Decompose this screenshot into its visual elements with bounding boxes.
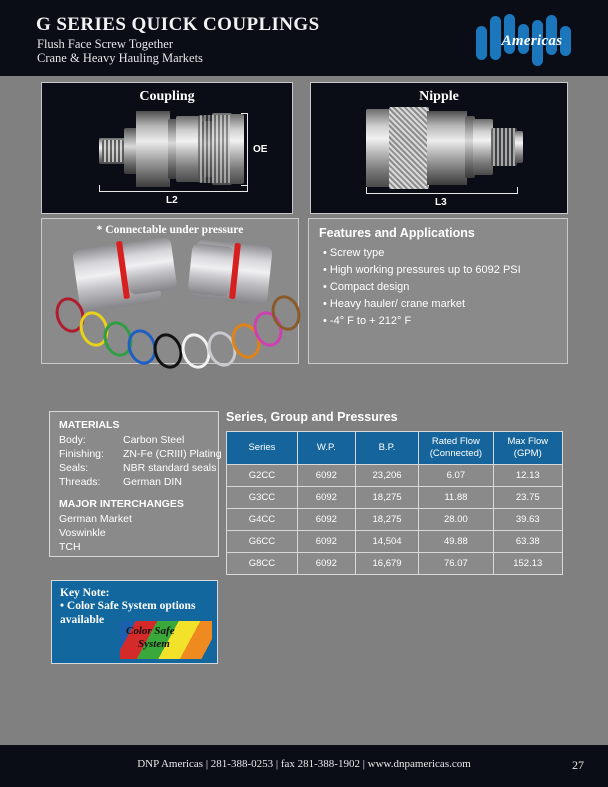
coupling-oe-label: OE <box>253 144 267 155</box>
cell-wp: 6092 <box>297 487 355 509</box>
footer-contact-text: DNP Americas | 281-388-0253 | fax 281-38… <box>0 758 608 770</box>
column-header-max-flow: Max Flow(GPM) <box>493 432 562 465</box>
cell-bp: 14,504 <box>355 531 418 553</box>
column-header-wp: W.P. <box>297 432 355 465</box>
cell-max-flow: 152.13 <box>493 553 562 575</box>
cell-max-flow: 63.38 <box>493 531 562 553</box>
features-title: Features and Applications <box>319 226 475 240</box>
cell-rated-flow: 11.88 <box>419 487 493 509</box>
interchange-item: German Market <box>59 512 209 526</box>
nipple-l3-tick-right <box>517 187 518 194</box>
table-row: G2CC 6092 23,206 6.07 12.13 <box>227 465 563 487</box>
table-row: G4CC 6092 18,275 28.00 39.63 <box>227 509 563 531</box>
cell-bp: 23,206 <box>355 465 418 487</box>
interchange-item: TCH <box>59 540 209 554</box>
cell-series: G6CC <box>227 531 298 553</box>
cell-max-flow: 12.13 <box>493 465 562 487</box>
color-safe-logo-text: Color Safe System <box>126 625 175 651</box>
materials-row: Finishing:ZN-Fe (CRIII) Plating <box>59 447 209 461</box>
connectable-under-pressure-title: * Connectable under pressure <box>42 224 298 236</box>
cell-wp: 6092 <box>297 509 355 531</box>
coupling-oe-tick-top <box>241 113 248 114</box>
feature-item: • Heavy hauler/ crane market <box>323 296 521 313</box>
coupling-l2-label: L2 <box>166 195 178 206</box>
nipple-image-panel: Nipple L3 <box>310 82 568 214</box>
cell-rated-flow: 6.07 <box>419 465 493 487</box>
materials-box: MATERIALS Body:Carbon Steel Finishing:ZN… <box>49 411 219 557</box>
page-header: G SERIES QUICK COUPLINGS Flush Face Scre… <box>0 0 608 76</box>
table-header-row: Series W.P. B.P. Rated Flow(Connected) M… <box>227 432 563 465</box>
cell-wp: 6092 <box>297 531 355 553</box>
cell-wp: 6092 <box>297 553 355 575</box>
coupling-image-panel: Coupling OE L2 <box>41 82 293 214</box>
key-note-title: Key Note: <box>60 587 209 599</box>
coupling-l2-tick-left <box>99 185 100 192</box>
coupling-panel-title: Coupling <box>42 89 292 105</box>
cell-bp: 18,275 <box>355 487 418 509</box>
cell-rated-flow: 28.00 <box>419 509 493 531</box>
features-and-applications-panel: Features and Applications • Screw type •… <box>308 218 568 364</box>
materials-heading: MATERIALS <box>59 419 209 431</box>
cell-max-flow: 39.63 <box>493 509 562 531</box>
column-header-bp: B.P. <box>355 432 418 465</box>
feature-item: • -4° F to + 212° F <box>323 313 521 330</box>
table-row: G6CC 6092 14,504 49.88 63.38 <box>227 531 563 553</box>
nipple-l3-label: L3 <box>435 197 447 208</box>
materials-row: Seals:NBR standard seals <box>59 461 209 475</box>
feature-item: • High working pressures up to 6092 PSI <box>323 262 521 279</box>
connectable-under-pressure-panel: * Connectable under pressure <box>41 218 299 364</box>
table-row: G8CC 6092 16,679 76.07 152.13 <box>227 553 563 575</box>
series-table-title: Series, Group and Pressures <box>226 410 398 424</box>
nipple-panel-title: Nipple <box>311 89 567 105</box>
key-note-box: Key Note: • Color Safe System options av… <box>51 580 218 664</box>
page-footer: DNP Americas | 281-388-0253 | fax 281-38… <box>0 745 608 787</box>
materials-row: Body:Carbon Steel <box>59 433 209 447</box>
cell-bp: 16,679 <box>355 553 418 575</box>
key-note-line-1: • Color Safe System options <box>60 599 209 613</box>
coupling-l2-tick-right <box>247 185 248 192</box>
coupling-l2-dimension-line <box>99 191 248 192</box>
color-safe-system-logo: Color Safe System <box>120 621 212 659</box>
cell-series: G3CC <box>227 487 298 509</box>
coupling-oe-dimension-line <box>247 113 248 185</box>
feature-item: • Screw type <box>323 245 521 262</box>
features-list: • Screw type • High working pressures up… <box>323 245 521 330</box>
page-subtitle-2: Crane & Heavy Hauling Markets <box>37 51 203 66</box>
cell-bp: 18,275 <box>355 509 418 531</box>
dnp-americas-logo: Americas <box>470 12 580 66</box>
column-header-rated-flow: Rated Flow(Connected) <box>419 432 493 465</box>
cell-rated-flow: 49.88 <box>419 531 493 553</box>
cell-max-flow: 23.75 <box>493 487 562 509</box>
column-header-series: Series <box>227 432 298 465</box>
nipple-l3-tick-left <box>366 187 367 194</box>
cell-wp: 6092 <box>297 465 355 487</box>
table-row: G3CC 6092 18,275 11.88 23.75 <box>227 487 563 509</box>
cell-series: G4CC <box>227 509 298 531</box>
nipple-l3-dimension-line <box>366 193 518 194</box>
logo-script-text: Americas <box>484 33 580 50</box>
feature-item: • Compact design <box>323 279 521 296</box>
footer-page-number: 27 <box>572 758 584 773</box>
cell-series: G8CC <box>227 553 298 575</box>
interchange-item: Voswinkle <box>59 526 209 540</box>
cell-series: G2CC <box>227 465 298 487</box>
interchanges-heading: MAJOR INTERCHANGES <box>59 498 209 510</box>
page-title: G SERIES QUICK COUPLINGS <box>36 14 320 36</box>
page-subtitle-1: Flush Face Screw Together <box>37 37 173 52</box>
series-group-pressures-table: Series W.P. B.P. Rated Flow(Connected) M… <box>226 431 563 575</box>
cell-rated-flow: 76.07 <box>419 553 493 575</box>
materials-row: Threads:German DIN <box>59 475 209 489</box>
